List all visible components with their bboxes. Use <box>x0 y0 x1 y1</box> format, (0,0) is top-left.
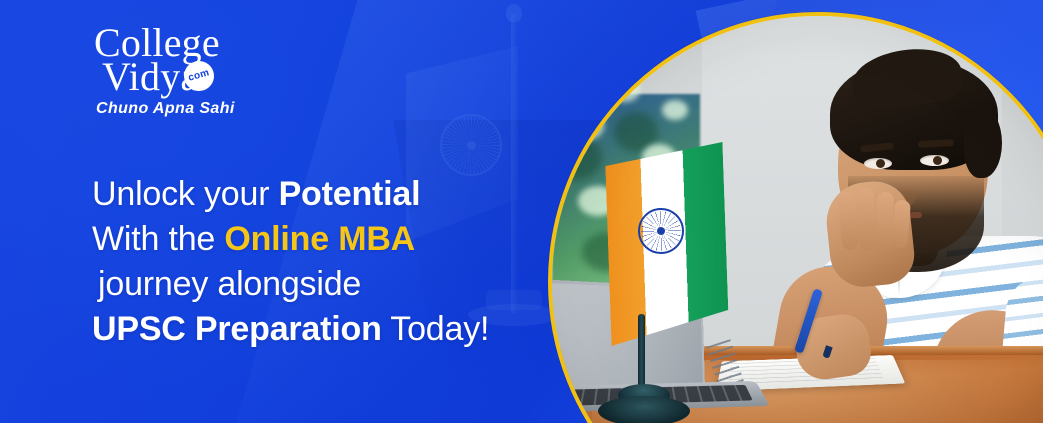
watermark-flag-finial <box>506 4 522 22</box>
promo-banner: College Vidya com Chuno Apna Sahi Unlock… <box>0 0 1043 423</box>
flag-stand-base <box>598 396 690 423</box>
brand-logo-wordmark: College Vidya com <box>92 26 352 94</box>
watermark-ashoka-chakra-icon <box>440 114 502 176</box>
headline-line1-plain: Unlock your <box>92 175 279 213</box>
hero-photo-scene <box>552 16 1043 423</box>
brand-logo-line2: Vidya <box>102 60 352 94</box>
brand-logo[interactable]: College Vidya com Chuno Apna Sahi <box>92 26 352 118</box>
watermark-chakra-hub <box>467 141 476 150</box>
headline-line-2: With the Online MBA <box>92 217 562 262</box>
headline-line-4: UPSC Preparation Today! <box>92 307 562 352</box>
headline-line4-bold: UPSC Preparation <box>92 310 382 348</box>
hero-photo-circle <box>548 12 1043 423</box>
headline-line-3: journey alongside <box>98 262 562 307</box>
person-iris-left <box>876 159 885 168</box>
headline-line-1: Unlock your Potential <box>92 172 562 217</box>
brand-tagline: Chuno Apna Sahi <box>96 100 352 118</box>
person-iris-right <box>933 156 942 165</box>
headline: Unlock your Potential With the Online MB… <box>92 172 562 352</box>
person-finger <box>857 188 876 251</box>
headline-line2-plain: With the <box>92 220 224 258</box>
headline-line1-bold: Potential <box>279 175 421 213</box>
headline-line2-highlight: Online MBA <box>224 220 415 258</box>
headline-line3-plain: journey alongside <box>98 265 361 303</box>
person-hair-side <box>964 108 1002 178</box>
headline-line4-plain: Today! <box>382 310 490 348</box>
